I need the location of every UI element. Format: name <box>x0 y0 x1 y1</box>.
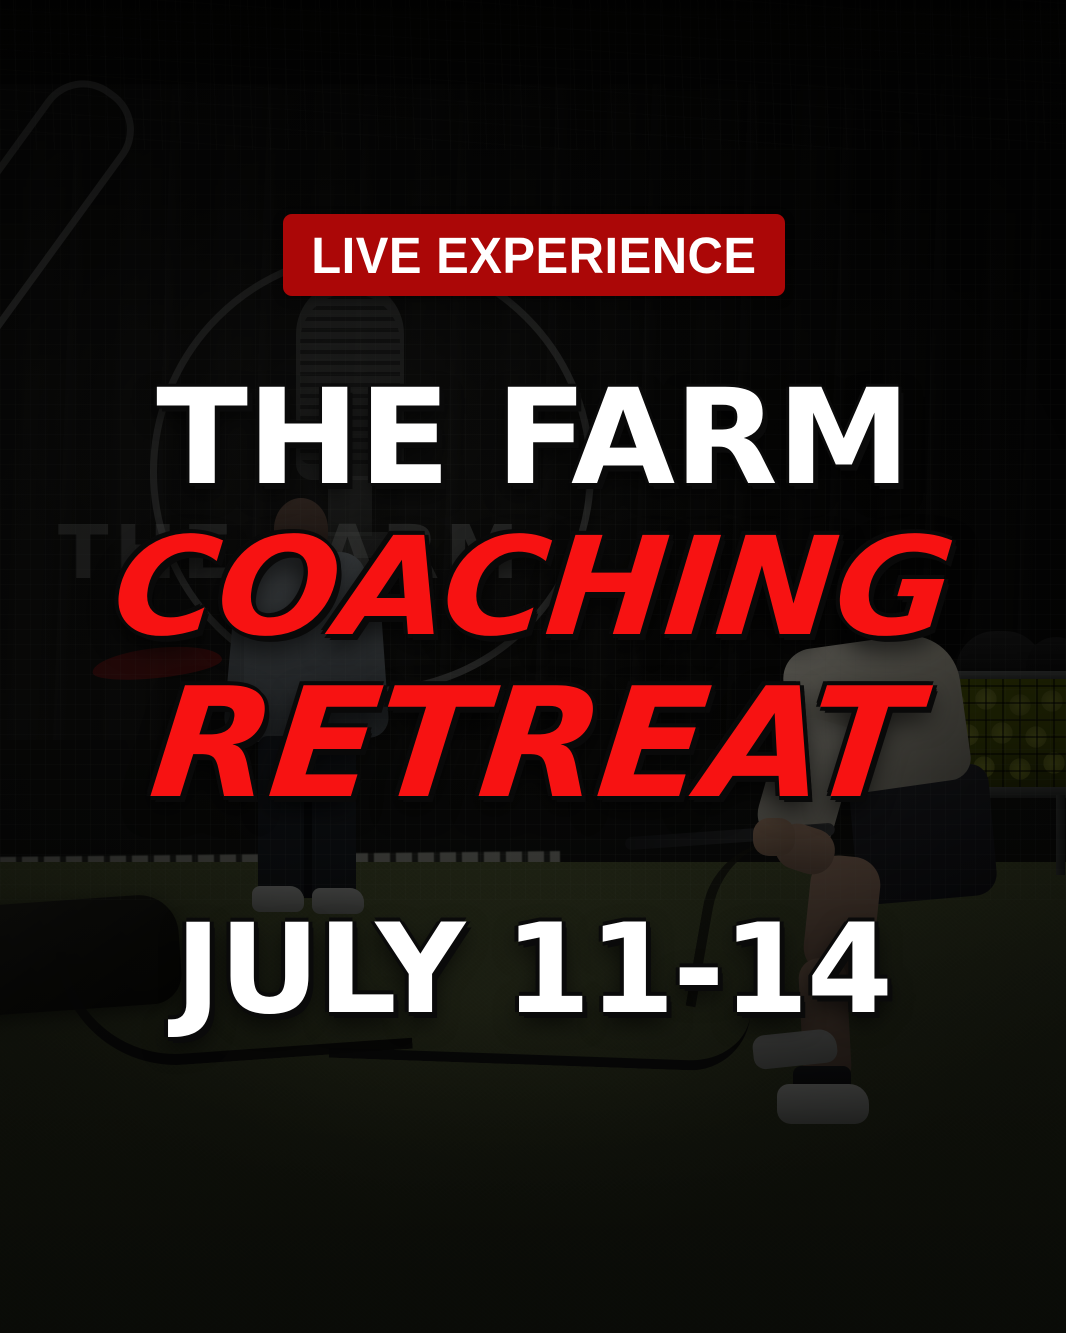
live-experience-badge: LIVE EXPERIENCE <box>283 214 785 296</box>
headline-line-coaching: COACHING <box>0 520 1066 656</box>
poster-content: LIVE EXPERIENCE THE FARM COACHING RETREA… <box>0 0 1066 1333</box>
promo-poster: THE FARM <box>0 0 1066 1333</box>
headline-line-retreat: RETREAT <box>0 668 1066 820</box>
live-experience-badge-label: LIVE EXPERIENCE <box>311 230 756 281</box>
event-date: JULY 11-14 <box>0 908 1066 1032</box>
headline-line-the-farm: THE FARM <box>0 372 1066 504</box>
